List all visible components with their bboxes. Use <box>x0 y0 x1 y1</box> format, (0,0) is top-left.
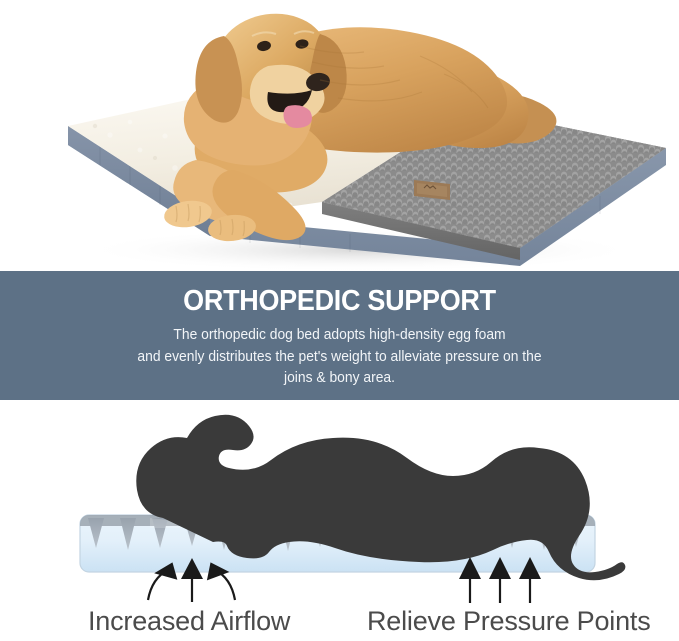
banner-subtitle-line-2: and evenly distributes the pet's weight … <box>17 347 662 369</box>
orthopedic-support-banner: ORTHOPEDIC SUPPORT The orthopedic dog be… <box>0 271 679 400</box>
banner-subtitle: The orthopedic dog bed adopts high-densi… <box>17 325 662 390</box>
product-photo <box>0 0 679 271</box>
banner-title: ORTHOPEDIC SUPPORT <box>24 287 655 316</box>
banner-subtitle-line-3: joins & bony area. <box>17 368 662 390</box>
banner-subtitle-line-1: The orthopedic dog bed adopts high-densi… <box>17 325 662 347</box>
product-photo-illustration <box>0 0 679 271</box>
diagram-illustration <box>0 400 679 641</box>
airflow-pressure-diagram <box>0 400 679 641</box>
